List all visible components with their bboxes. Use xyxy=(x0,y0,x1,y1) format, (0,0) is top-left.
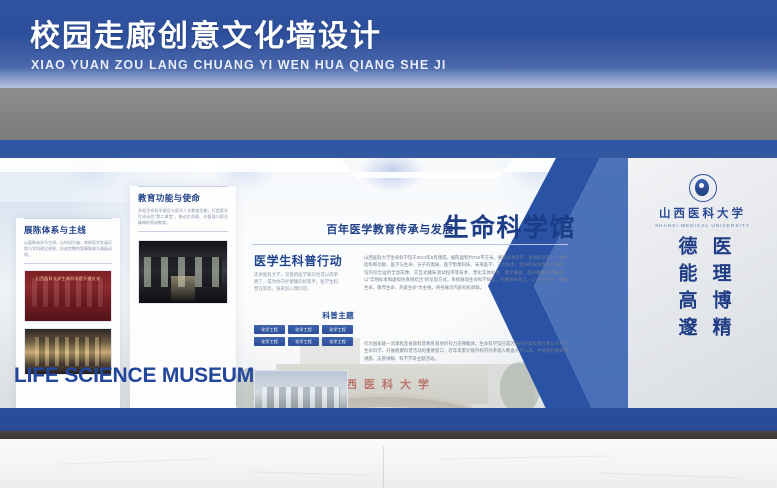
panel-a-top-rule xyxy=(24,218,112,219)
motto-column-2: 德能高邃 xyxy=(674,236,698,344)
panel-a-mid-rule xyxy=(24,263,112,264)
photo-red-hall-caption: 山西医科大学生命科学馆开馆仪式 xyxy=(25,276,111,282)
wall-base-dark-trim xyxy=(0,431,777,439)
university-identity-panel: 山西医科大学 SHANXI MEDICAL UNIVERSITY 德能高邃 医理… xyxy=(628,158,777,430)
university-name-en: SHANXI MEDICAL UNIVERSITY xyxy=(628,223,777,228)
panel-a-body: 以展陈体系为主线，以时间为轴，串联医学发展历程与学科建设成果，形成完整的叙事脉络… xyxy=(24,240,112,258)
motto-column-1: 医理博精 xyxy=(708,236,732,344)
panel-exhibit-system[interactable]: 展陈体系与主线 以展陈体系为主线，以时间为轴，串联医学发展历程与学科建设成果，形… xyxy=(16,218,120,423)
center-right-paragraph-2: 作为国家级一流课程及省级科普教育基地的有力支撑载体，生命科学馆已成为省内外高校及… xyxy=(364,340,568,362)
topic-tag[interactable]: 化学工程 xyxy=(288,325,319,334)
panel-b-body: 承担生命科学普及与医学人文教育功能，打造医学生成长的"第二课堂"，推动生命观、价… xyxy=(138,208,228,226)
poster-header: 校园走廊创意文化墙设计 XIAO YUAN ZOU LANG CHUANG YI… xyxy=(0,0,777,88)
floor-vein xyxy=(440,456,610,460)
marble-floor xyxy=(0,439,777,488)
ceiling-blue-strip xyxy=(0,140,777,158)
photo-red-hall: 山西医科大学生命科学馆开馆仪式 xyxy=(25,271,111,321)
center-sub-heading: 医学生科普行动 xyxy=(254,252,342,269)
floor-vein xyxy=(60,458,210,464)
museum-english-title: LIFE SCIENCE MUSEUM xyxy=(14,364,254,388)
topic-tag[interactable]: 化学工程 xyxy=(322,325,353,334)
center-kicker: 百年医学教育传承与发展 xyxy=(326,221,454,237)
university-name-cn: 山西医科大学 xyxy=(628,205,777,221)
tag-grid: 化学工程 化学工程 化学工程 化学工程 化学工程 化学工程 xyxy=(254,325,354,346)
page-title-pinyin: XIAO YUAN ZOU LANG CHUANG YI WEN HUA QIA… xyxy=(31,58,447,72)
ceiling-gray-band xyxy=(0,88,777,140)
panel-b-mid-rule xyxy=(138,231,228,232)
topic-tag[interactable]: 化学工程 xyxy=(322,337,353,346)
page-title: 校园走廊创意文化墙设计 xyxy=(30,19,382,55)
museum-main-title: 生命科学馆 xyxy=(443,208,576,244)
tag-group-heading: 科普主题 xyxy=(254,310,354,321)
center-left-paragraph: 走进医科大学，深奥的医学知识也可以简单明了，成为你守护健康的好帮手。医学生科普在… xyxy=(254,271,338,292)
culture-wall-poster: 校园走廊创意文化墙设计 XIAO YUAN ZOU LANG CHUANG YI… xyxy=(0,0,777,488)
panel-a-title: 展陈体系与主线 xyxy=(24,225,112,236)
center-right-paragraph: 山西医科大学生命科学馆于2013年8月建成，展陈面积约740平方米。展馆分为序厅… xyxy=(364,254,568,291)
floor-vein xyxy=(600,473,740,479)
panel-b-photo-exhibit-hall xyxy=(138,240,228,304)
university-motto: 德能高邃 医理博精 xyxy=(628,236,777,344)
floor-tile-seam xyxy=(383,446,384,488)
topic-tag[interactable]: 化学工程 xyxy=(254,325,285,334)
panel-b-title: 教育功能与使命 xyxy=(138,193,228,204)
university-emblem-icon xyxy=(689,174,717,202)
science-topic-tags: 科普主题 化学工程 化学工程 化学工程 化学工程 化学工程 化学工程 xyxy=(254,310,354,346)
center-divider-rule xyxy=(252,244,568,245)
topic-tag[interactable]: 化学工程 xyxy=(254,337,285,346)
center-content: 百年医学教育传承与发展 生命科学馆 医学生科普行动 走进医科大学，深奥的医学知识… xyxy=(246,158,576,430)
panel-b-top-rule xyxy=(138,186,228,187)
wall-scene: 山西医科大学 展陈体系与主线 以展陈体系为主线，以时间为轴，串联医学发展历程与学… xyxy=(0,158,777,430)
university-logo-block: 山西医科大学 SHANXI MEDICAL UNIVERSITY xyxy=(628,174,777,228)
photo-exhibit-hall xyxy=(139,241,227,303)
topic-tag[interactable]: 化学工程 xyxy=(288,337,319,346)
panel-a-photo-opening-ceremony: 山西医科大学生命科学馆开馆仪式 xyxy=(24,270,112,322)
floor-vein xyxy=(250,471,370,475)
